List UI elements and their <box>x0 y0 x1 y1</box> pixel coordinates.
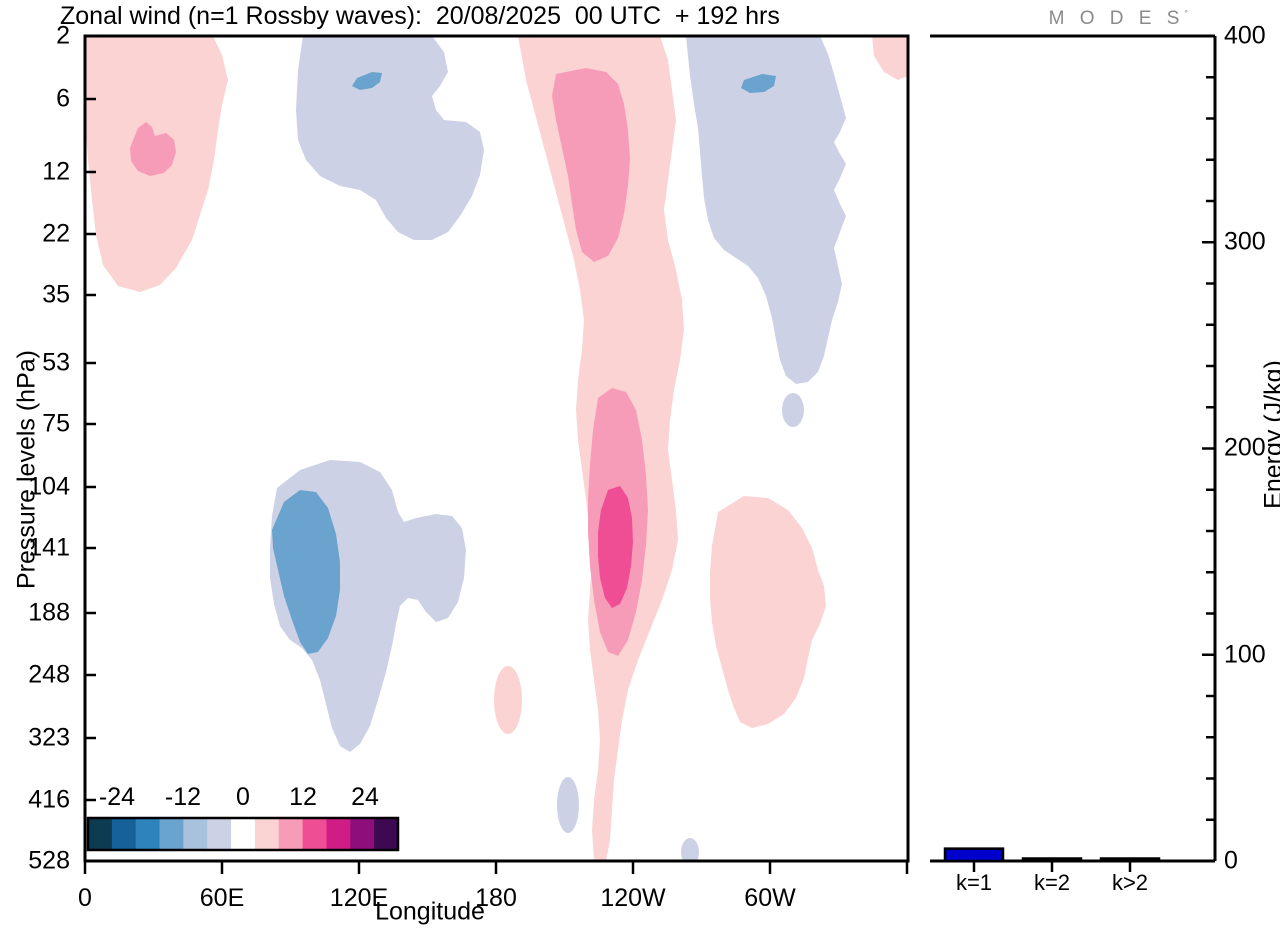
colorbar-tick-label: 12 <box>289 783 317 812</box>
energy-panel-background <box>930 36 1215 861</box>
ytick-label: 22 <box>8 220 70 249</box>
contour-field <box>85 36 908 866</box>
contour-pos-lvl1-left-edge-sliver <box>85 36 96 94</box>
xtick-label: 0 <box>78 884 92 913</box>
colorbar-swatch <box>374 818 398 850</box>
energy-bar <box>945 849 1003 861</box>
colorbar-swatch <box>136 818 160 850</box>
colorbar-tick-label: -24 <box>99 783 135 812</box>
colorbar-swatch <box>255 818 279 850</box>
ytick-label: 416 <box>0 786 70 815</box>
left-axis-title: Pressure levels (hPa) <box>13 300 42 640</box>
energy-bar <box>1023 859 1081 862</box>
energy-category-label-kgt2: k>2 <box>1112 870 1148 896</box>
energy-ytick-label: 300 <box>1224 228 1266 257</box>
xtick-label: 60W <box>744 884 795 913</box>
colorbar-swatch <box>303 818 327 850</box>
energy-category-label-k2: k=2 <box>1034 870 1070 896</box>
colorbar-swatch <box>183 818 207 850</box>
colorbar-swatch <box>88 818 112 850</box>
colorbar-tick-label: -12 <box>165 783 201 812</box>
xtick-label: 60E <box>200 884 244 913</box>
right-axis-title: Energy (J/kg) <box>1260 265 1280 605</box>
energy-ytick-label: 0 <box>1224 847 1238 876</box>
energy-ytick-label: 100 <box>1224 641 1266 670</box>
xtick-label: 120W <box>600 884 665 913</box>
energy-category-label-k1: k=1 <box>956 870 992 896</box>
ytick-label: 323 <box>0 724 70 753</box>
ytick-label: 6 <box>8 85 70 114</box>
energy-ytick-label: 400 <box>1224 22 1266 51</box>
ytick-label: 12 <box>8 158 70 187</box>
ytick-label: 528 <box>0 847 70 876</box>
contour-neg-lvl1-detached-right <box>782 393 804 427</box>
colorbar-swatch <box>326 818 350 850</box>
colorbar-swatch <box>207 818 231 850</box>
colorbar-swatch <box>160 818 184 850</box>
ytick-label: 248 <box>0 661 70 690</box>
colorbar-swatch <box>112 818 136 850</box>
colorbar <box>88 818 399 850</box>
contour-neg-lvl1-small-blob-bottom <box>557 777 579 833</box>
colorbar-tick-label: 24 <box>351 783 379 812</box>
bottom-axis-title: Longitude <box>375 898 485 927</box>
colorbar-tick-label: 0 <box>236 783 250 812</box>
ytick-label: 2 <box>8 22 70 51</box>
contour-pos-lvl1-small-blob-180 <box>494 666 522 734</box>
colorbar-swatch <box>279 818 303 850</box>
energy-bar <box>1101 859 1159 862</box>
colorbar-swatch <box>231 818 255 850</box>
figure-canvas: Zonal wind (n=1 Rossby waves): 20/08/202… <box>0 0 1280 930</box>
colorbar-swatch <box>350 818 374 850</box>
bottom-axis-ticks <box>85 861 907 874</box>
